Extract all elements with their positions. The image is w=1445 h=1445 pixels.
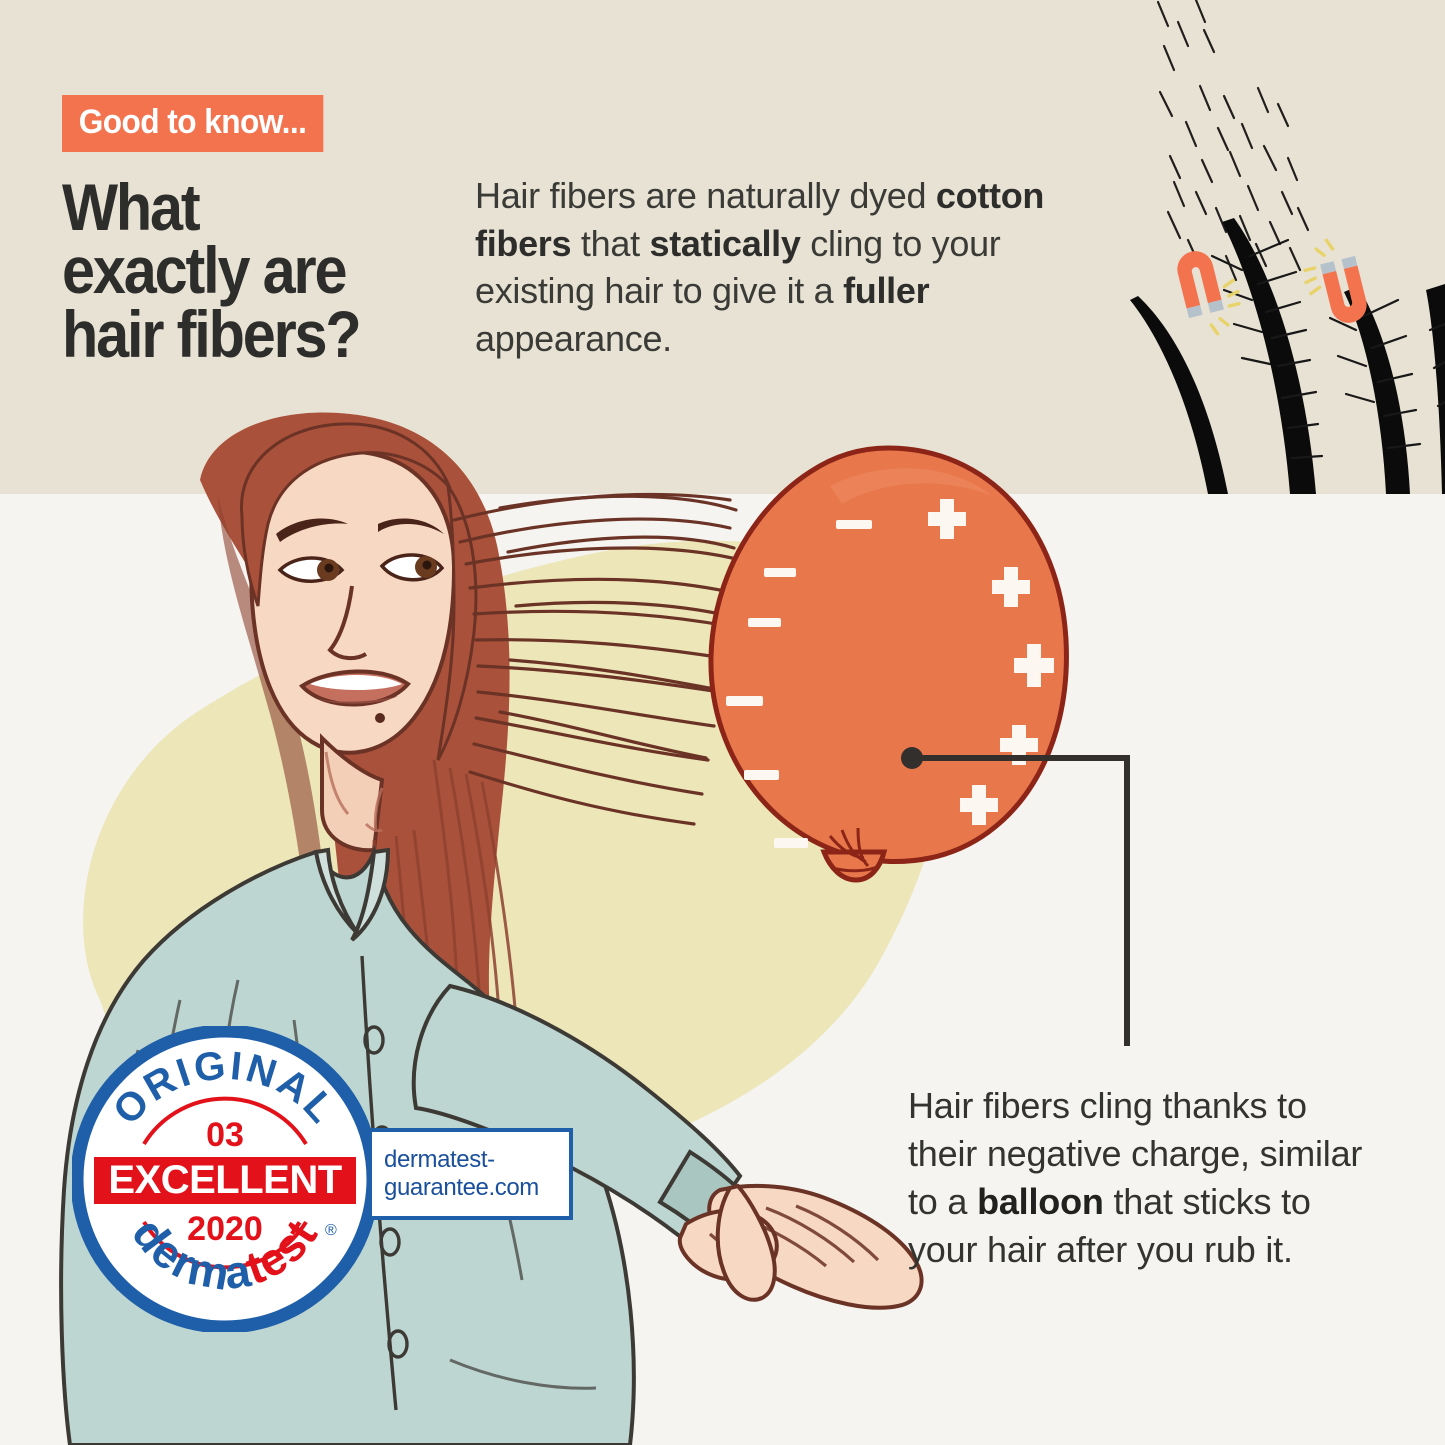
callout-paragraph: Hair fibers cling thanks to their negati… (908, 1082, 1378, 1274)
infographic-canvas: Good to know... What exactly are hair fi… (0, 0, 1445, 1445)
body-text: Hair fibers are naturally dyed (475, 175, 936, 216)
headline-line-3: hair fibers? (62, 303, 440, 366)
hand-shape (680, 1186, 922, 1308)
seal-registered-mark: ® (325, 1222, 337, 1239)
dermatest-seal[interactable]: ORIGINAL 03 EXCELLENT 2020 dermatest ® (72, 1026, 378, 1332)
hair-strands-with-magnets-illustration (1130, 0, 1445, 494)
seal-number: 03 (206, 1116, 244, 1154)
callout-elbow-path (912, 758, 1127, 1046)
callout-connector-line (890, 735, 1160, 1065)
hair-strand-shapes (1130, 218, 1445, 494)
eyebrow-badge: Good to know... (62, 95, 323, 152)
seal-url-label: dermatest-guarantee.com (384, 1146, 569, 1202)
headline-line-1: What (62, 176, 440, 239)
intro-paragraph: Hair fibers are naturally dyed cotton fi… (475, 172, 1100, 362)
beauty-mark (375, 713, 385, 723)
body-text: appearance. (475, 318, 672, 359)
emphasis-text: statically (650, 223, 801, 264)
emphasis-text: balloon (977, 1181, 1104, 1222)
magnet-right-icon (1297, 234, 1370, 331)
page-title: What exactly are hair fibers? (62, 176, 440, 366)
headline-line-2: exactly are (62, 239, 440, 302)
body-text: that (571, 223, 649, 264)
seal-grade-label: EXCELLENT (108, 1158, 341, 1202)
seal-url-box[interactable]: dermatest-guarantee.com (368, 1128, 573, 1220)
emphasis-text: fuller (843, 270, 929, 311)
